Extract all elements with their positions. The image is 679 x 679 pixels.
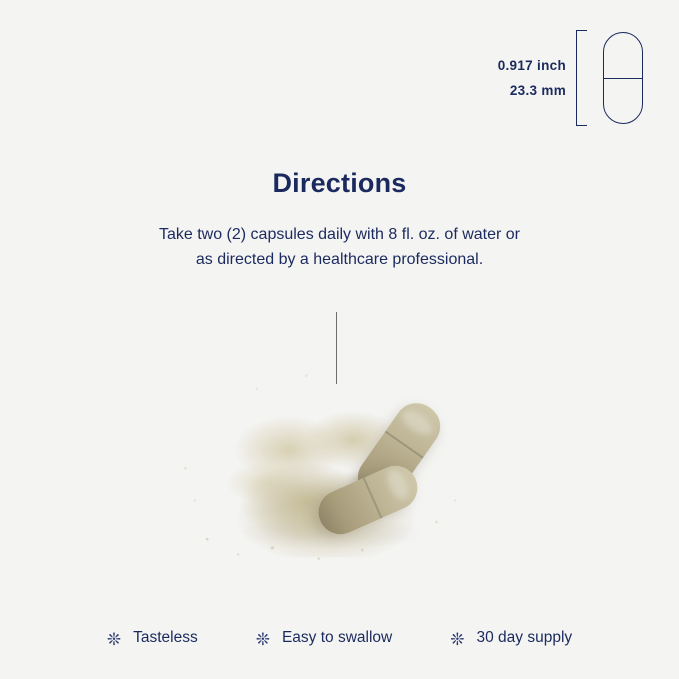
feature-label: Easy to swallow [282, 629, 392, 647]
size-millimeters-label: 23.3 mm [510, 83, 566, 98]
feature-label: Tasteless [133, 629, 198, 647]
feature-label: 30 day supply [476, 629, 572, 647]
list-item: ❊ 30 day supply [450, 629, 572, 647]
size-labels: 0.917 inch 23.3 mm [498, 58, 566, 98]
page-title: Directions [0, 168, 679, 199]
measurement-bracket-icon [576, 30, 587, 126]
asterisk-icon: ❊ [107, 631, 121, 648]
directions-text: Take two (2) capsules daily with 8 fl. o… [150, 222, 530, 272]
list-item: ❊ Easy to swallow [256, 629, 393, 647]
powder-grains [170, 350, 480, 565]
feature-list: ❊ Tasteless ❊ Easy to swallow ❊ 30 day s… [0, 629, 679, 647]
list-item: ❊ Tasteless [107, 629, 198, 647]
capsule-seam [385, 431, 424, 459]
size-inches-label: 0.917 inch [498, 58, 566, 73]
capsule-outline-icon [603, 32, 643, 124]
product-photo [150, 300, 540, 600]
asterisk-icon: ❊ [256, 631, 270, 648]
capsule-seam [363, 477, 383, 518]
asterisk-icon: ❊ [450, 631, 464, 648]
capsule-size-callout: 0.917 inch 23.3 mm [498, 30, 643, 126]
